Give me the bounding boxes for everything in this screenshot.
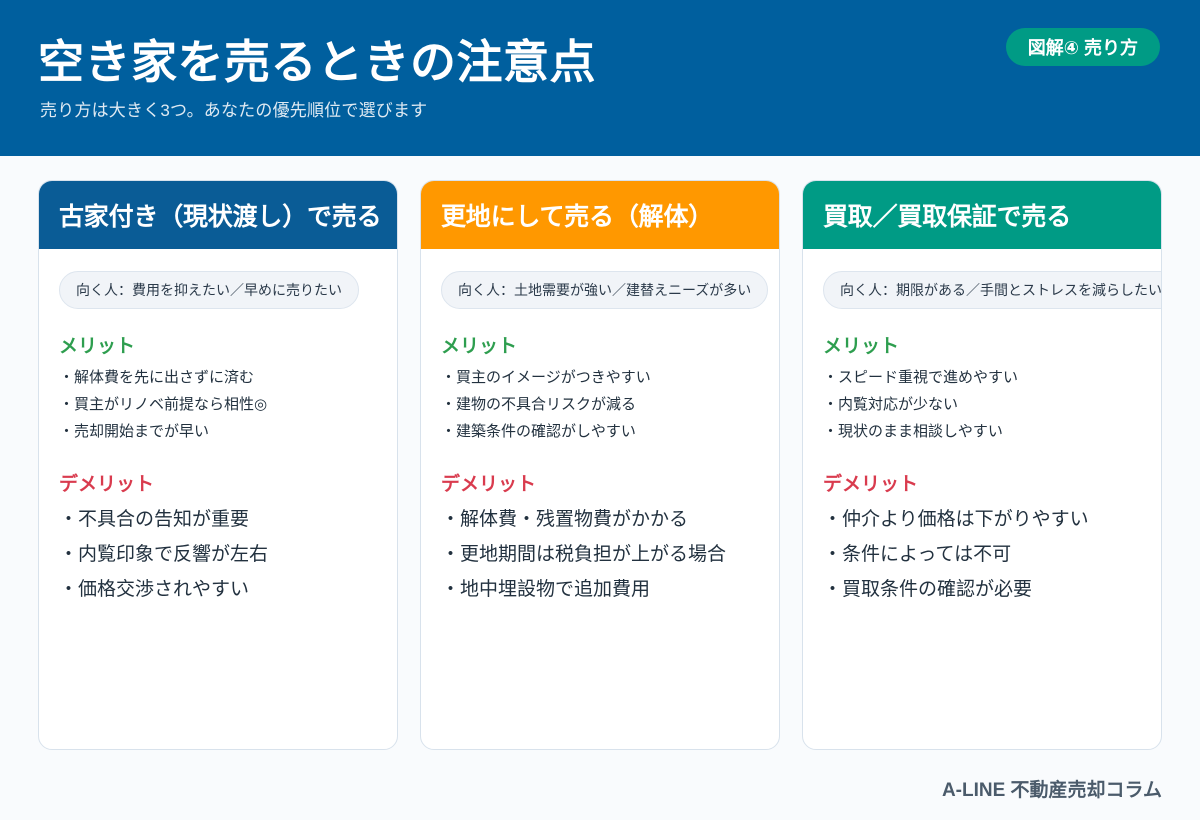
demerit-block: デメリット ・仲介より価格は下がりやすい ・条件によっては不可 ・買取条件の確認… (823, 469, 1141, 607)
target-audience-pill: 向く人：費用を抑えたい／早めに売りたい (59, 271, 359, 309)
list-item: ・仲介より価格は下がりやすい (823, 502, 1141, 537)
merit-heading: メリット (823, 331, 1141, 358)
list-item: ・買主のイメージがつきやすい (441, 364, 759, 391)
list-item: ・スピード重視で進めやすい (823, 364, 1141, 391)
card-title: 古家付き（現状渡し）で売る (39, 181, 397, 249)
page-subtitle: 売り方は大きく3つ。あなたの優先順位で選びます (40, 96, 427, 121)
demerit-list: ・不具合の告知が重要 ・内覧印象で反響が左右 ・価格交渉されやすい (59, 502, 377, 607)
demerit-heading: デメリット (823, 469, 1141, 496)
list-item: ・買取条件の確認が必要 (823, 572, 1141, 607)
card-genjo-watashi: 古家付き（現状渡し）で売る 向く人：費用を抑えたい／早めに売りたい メリット ・… (38, 180, 398, 750)
demerit-heading: デメリット (441, 469, 759, 496)
list-item: ・内覧対応が少ない (823, 391, 1141, 418)
demerit-list: ・解体費・残置物費がかかる ・更地期間は税負担が上がる場合 ・地中埋設物で追加費… (441, 502, 759, 607)
merit-heading: メリット (441, 331, 759, 358)
list-item: ・価格交渉されやすい (59, 572, 377, 607)
demerit-block: デメリット ・解体費・残置物費がかかる ・更地期間は税負担が上がる場合 ・地中埋… (441, 469, 759, 607)
card-kaitori: 買取／買取保証で売る 向く人：期限がある／手間とストレスを減らしたい メリット … (802, 180, 1162, 750)
card-body: 向く人：費用を抑えたい／早めに売りたい メリット ・解体費を先に出さずに済む ・… (39, 249, 397, 749)
list-item: ・現状のまま相談しやすい (823, 418, 1141, 445)
figure-badge: 図解④ 売り方 (1006, 28, 1160, 66)
list-item: ・条件によっては不可 (823, 537, 1141, 572)
list-item: ・地中埋設物で追加費用 (441, 572, 759, 607)
merit-heading: メリット (59, 331, 377, 358)
list-item: ・内覧印象で反響が左右 (59, 537, 377, 572)
target-audience-pill: 向く人：期限がある／手間とストレスを減らしたい (823, 271, 1162, 309)
list-item: ・買主がリノベ前提なら相性◎ (59, 391, 377, 418)
merit-list: ・解体費を先に出さずに済む ・買主がリノベ前提なら相性◎ ・売却開始までが早い (59, 364, 377, 445)
card-title: 買取／買取保証で売る (803, 181, 1161, 249)
card-body: 向く人：土地需要が強い／建替えニーズが多い メリット ・買主のイメージがつきやす… (421, 249, 779, 749)
target-audience-pill: 向く人：土地需要が強い／建替えニーズが多い (441, 271, 768, 309)
card-sarachi: 更地にして売る（解体） 向く人：土地需要が強い／建替えニーズが多い メリット ・… (420, 180, 780, 750)
merit-block: メリット ・解体費を先に出さずに済む ・買主がリノベ前提なら相性◎ ・売却開始ま… (59, 331, 377, 445)
list-item: ・解体費・残置物費がかかる (441, 502, 759, 537)
merit-block: メリット ・買主のイメージがつきやすい ・建物の不具合リスクが減る ・建築条件の… (441, 331, 759, 445)
page-title: 空き家を売るときの注意点 (38, 26, 596, 92)
card-title: 更地にして売る（解体） (421, 181, 779, 249)
list-item: ・更地期間は税負担が上がる場合 (441, 537, 759, 572)
merit-list: ・スピード重視で進めやすい ・内覧対応が少ない ・現状のまま相談しやすい (823, 364, 1141, 445)
merit-list: ・買主のイメージがつきやすい ・建物の不具合リスクが減る ・建築条件の確認がしや… (441, 364, 759, 445)
list-item: ・売却開始までが早い (59, 418, 377, 445)
demerit-list: ・仲介より価格は下がりやすい ・条件によっては不可 ・買取条件の確認が必要 (823, 502, 1141, 607)
cards-row: 古家付き（現状渡し）で売る 向く人：費用を抑えたい／早めに売りたい メリット ・… (38, 180, 1162, 750)
list-item: ・建築条件の確認がしやすい (441, 418, 759, 445)
header-band: 空き家を売るときの注意点 売り方は大きく3つ。あなたの優先順位で選びます 図解④… (0, 0, 1200, 156)
footer-brand: A-LINE 不動産売却コラム (942, 775, 1162, 802)
card-body: 向く人：期限がある／手間とストレスを減らしたい メリット ・スピード重視で進めや… (803, 249, 1161, 749)
list-item: ・不具合の告知が重要 (59, 502, 377, 537)
list-item: ・解体費を先に出さずに済む (59, 364, 377, 391)
list-item: ・建物の不具合リスクが減る (441, 391, 759, 418)
demerit-block: デメリット ・不具合の告知が重要 ・内覧印象で反響が左右 ・価格交渉されやすい (59, 469, 377, 607)
merit-block: メリット ・スピード重視で進めやすい ・内覧対応が少ない ・現状のまま相談しやす… (823, 331, 1141, 445)
demerit-heading: デメリット (59, 469, 377, 496)
